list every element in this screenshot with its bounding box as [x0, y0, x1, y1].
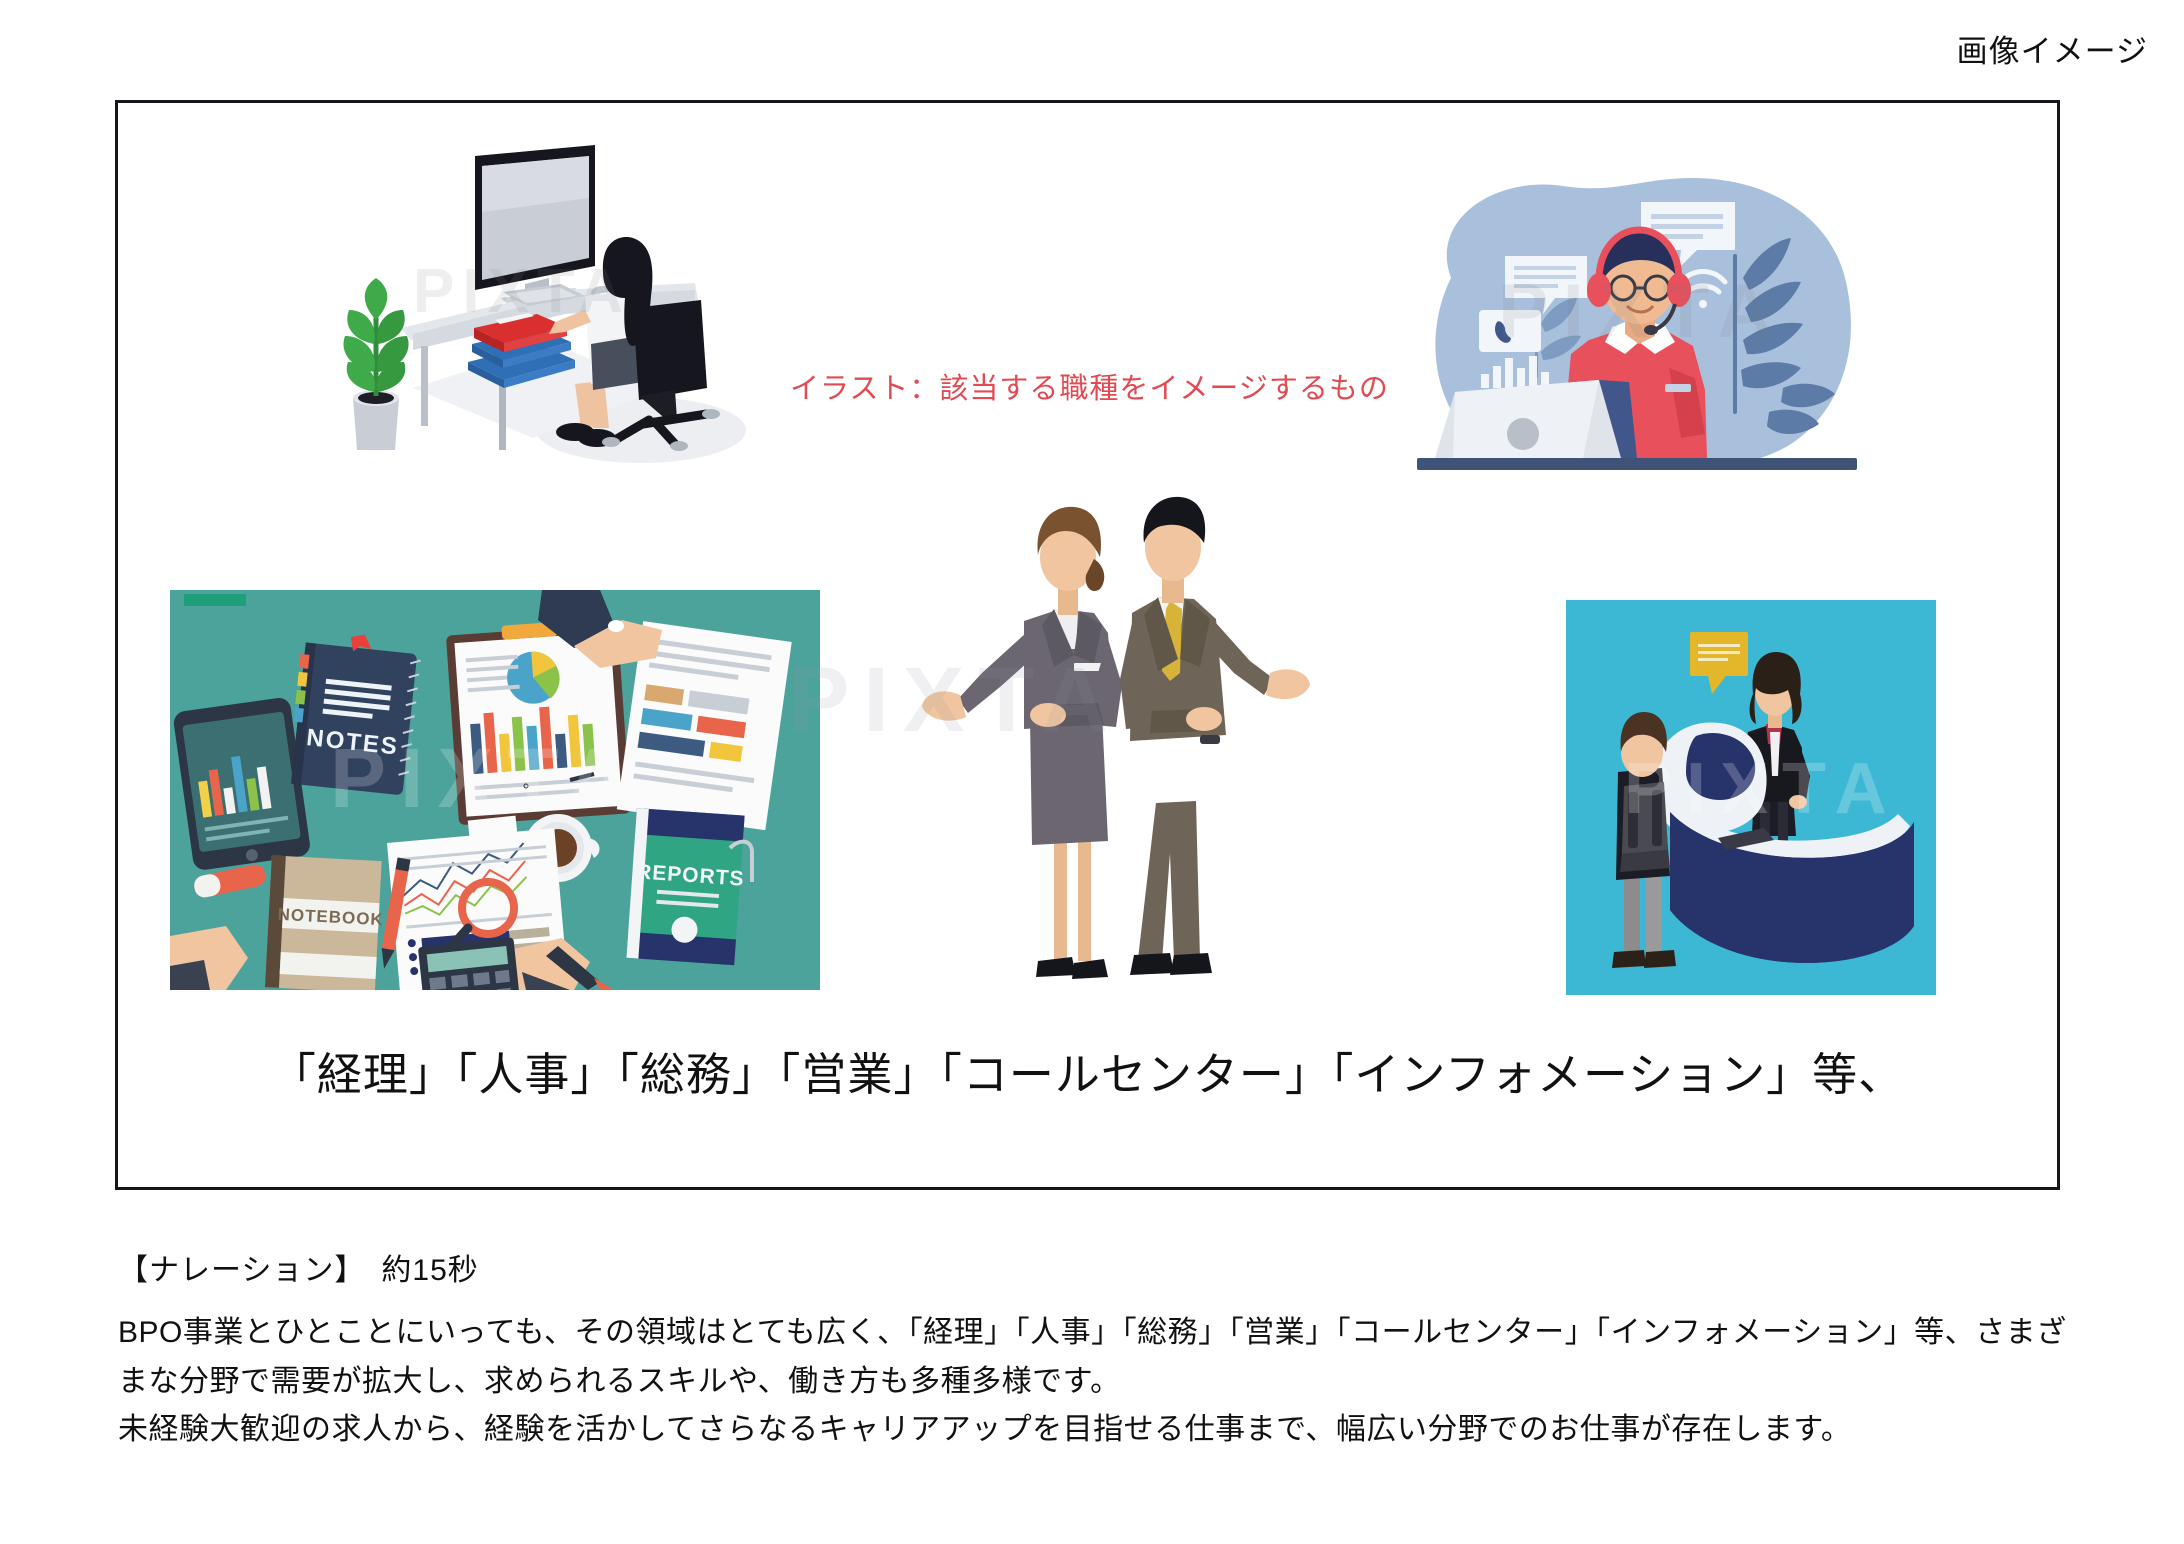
page-header-label: 画像イメージ [1957, 26, 2148, 71]
information-counter-illustration: PIXTA [1566, 600, 1936, 995]
slide-caption-text: 「経理」「人事」「総務」「営業」「コールセンター」「インフォメーション」等、 [118, 1038, 2057, 1103]
image-preview-frame: PIXTA イラスト：該当する職種をイメージするもの [115, 100, 2060, 1190]
narration-block: 【ナレーション】 約15秒 BPO事業とひとことにいっても、その領域はとても広く… [118, 1245, 2078, 1455]
isometric-office-desk-illustration: PIXTA [303, 138, 803, 468]
narration-line-2: まな分野で需要が拡大し、求められるスキルや、働き方も多種多様です。 [118, 1358, 2078, 1407]
illustration-annotation-note: イラスト：該当する職種をイメージするもの [790, 365, 1389, 407]
business-pair-presenting-illustration: PIXTA [908, 473, 1328, 1013]
desk-flatlay-documents-illustration: NOTES [170, 590, 820, 990]
narration-line-1: BPO事業とひとことにいっても、その領域はとても広く、「経理」「人事」「総務」「… [118, 1309, 2078, 1358]
call-center-operator-illustration: PIXTA [1393, 158, 1883, 488]
narration-line-3: 未経験大歓迎の求人から、経験を活かしてさらなるキャリアアップを目指せる仕事まで、… [118, 1406, 2078, 1455]
narration-heading: 【ナレーション】 約15秒 [118, 1245, 2078, 1289]
